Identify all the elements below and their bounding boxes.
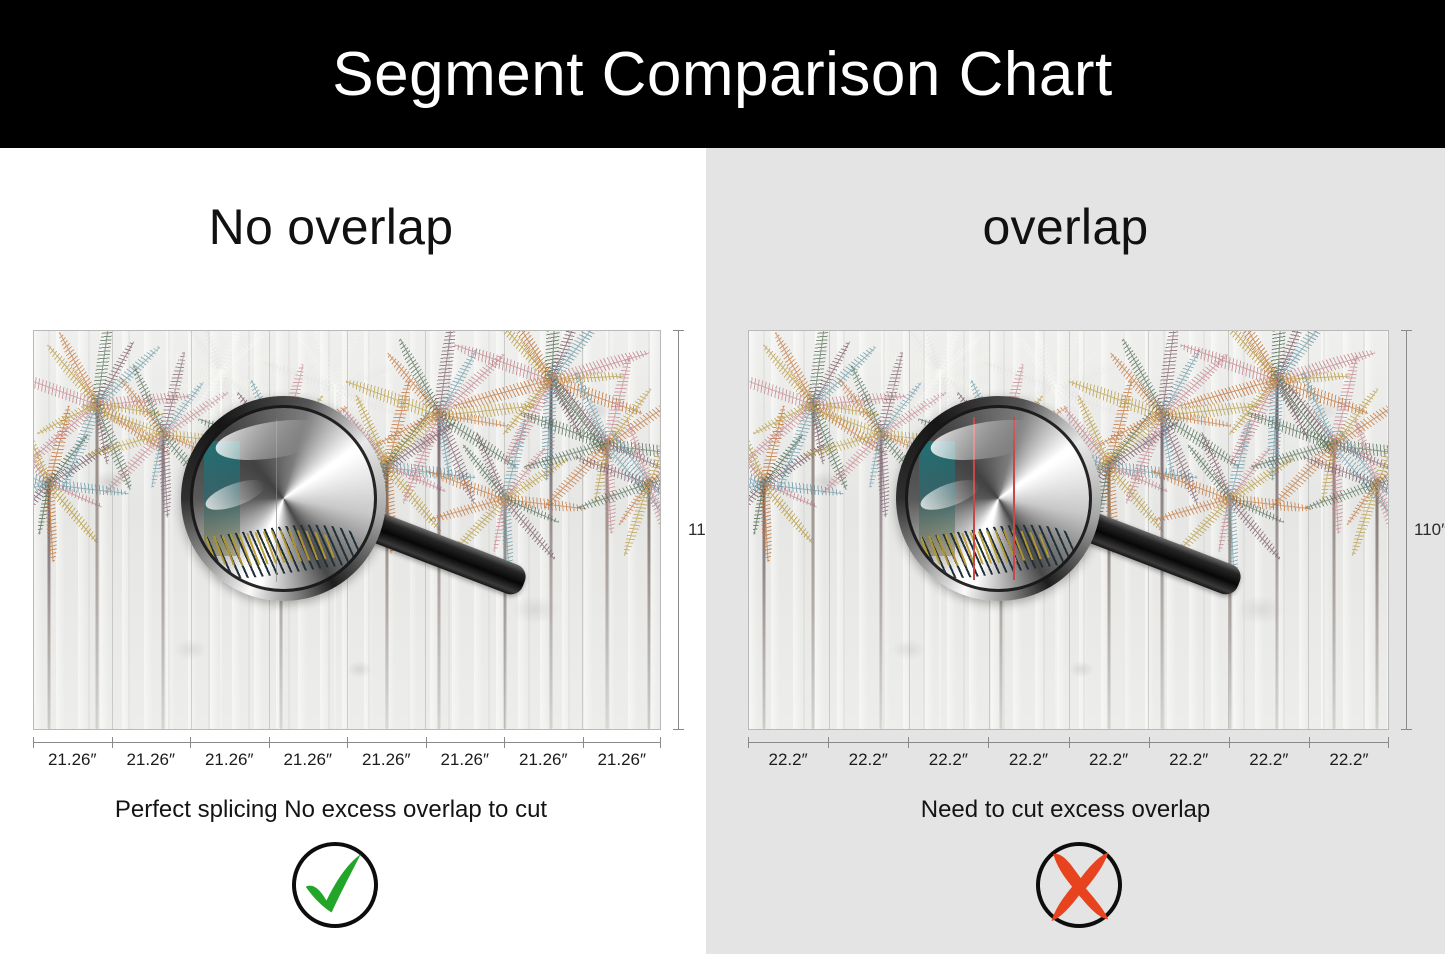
segment-width-label: 21.26″ (347, 750, 426, 770)
comparison-panels: No overlap (0, 148, 1445, 954)
segment-width-label: 22.2″ (908, 750, 988, 770)
status-badge-error (1036, 842, 1122, 928)
magnifier-ring (181, 396, 386, 601)
palm-tree (606, 439, 608, 729)
wallpaper-preview-no-overlap: 110″ 21.26″21.26″21.26″21.26″21.26″21.26… (33, 330, 661, 730)
segment-width-label: 22.2″ (988, 750, 1068, 770)
segment-width-label: 22.2″ (1309, 750, 1389, 770)
segment-dimension-line (748, 742, 1389, 743)
segment-width-label: 21.26″ (33, 750, 112, 770)
segment-width-label: 21.26″ (269, 750, 348, 770)
segment-tick (190, 737, 191, 748)
palm-tree (162, 429, 164, 729)
segment-tick (347, 737, 348, 748)
wallpaper-preview-overlap: 110″ 22.2″22.2″22.2″22.2″22.2″22.2″22.2″… (748, 330, 1389, 730)
magnifier-lens (905, 405, 1092, 592)
segment-width-label: 21.26″ (583, 750, 662, 770)
panel-overlap: overlap (706, 148, 1445, 954)
segment-label-row: 22.2″22.2″22.2″22.2″22.2″22.2″22.2″22.2″ (748, 750, 1389, 770)
height-dimension-line (678, 330, 679, 730)
height-dimension-label: 110″ (1414, 520, 1445, 540)
palm-trunk (438, 409, 441, 729)
status-badge-success (292, 842, 378, 928)
palm-tree (648, 479, 650, 729)
segment-tick (1229, 737, 1230, 748)
segment-tick (504, 737, 505, 748)
palm-trunk (648, 479, 651, 729)
palm-tree (880, 429, 882, 729)
segment-width-label: 22.2″ (828, 750, 908, 770)
segment-comparison-chart-page: Segment Comparison Chart No overlap (0, 0, 1445, 954)
palm-trunk (1375, 479, 1378, 729)
segment-width-label: 22.2″ (1229, 750, 1309, 770)
panel-caption-overlap: Need to cut excess overlap (696, 796, 1435, 824)
palm-tree (1229, 494, 1231, 729)
cross-mark-icon (1036, 842, 1122, 928)
palm-tree (438, 409, 440, 729)
palm-tree (763, 479, 765, 729)
panel-heading-no-overlap: No overlap (0, 198, 684, 256)
segment-width-label: 22.2″ (1149, 750, 1229, 770)
segment-width-label: 22.2″ (1069, 750, 1149, 770)
segment-width-label: 21.26″ (504, 750, 583, 770)
check-mark-icon (292, 842, 378, 928)
segment-width-label: 21.26″ (190, 750, 269, 770)
segment-tick (269, 737, 270, 748)
segment-tick (908, 737, 909, 748)
palm-tree (48, 479, 50, 729)
segment-tick (1069, 737, 1070, 748)
panel-no-overlap: No overlap (0, 148, 706, 954)
palm-tree (1333, 439, 1335, 729)
segment-width-label: 21.26″ (112, 750, 191, 770)
panel-heading-overlap: overlap (696, 198, 1435, 256)
page-header: Segment Comparison Chart (0, 0, 1445, 148)
segment-tick (988, 737, 989, 748)
segment-tick (112, 737, 113, 748)
palm-tree (386, 461, 388, 729)
panel-caption-no-overlap: Perfect splicing No excess overlap to cu… (0, 796, 684, 824)
segment-tick (426, 737, 427, 748)
segment-width-label: 22.2″ (748, 750, 828, 770)
segment-tick (1149, 737, 1150, 748)
magnifier-lens (190, 405, 377, 592)
magnifier-ring (896, 396, 1101, 601)
segment-tick (1309, 737, 1310, 748)
segment-dimension-line (33, 742, 661, 743)
segment-label-row: 21.26″21.26″21.26″21.26″21.26″21.26″21.2… (33, 750, 661, 770)
segment-width-label: 21.26″ (426, 750, 505, 770)
page-title: Segment Comparison Chart (332, 39, 1112, 110)
segment-tick (583, 737, 584, 748)
height-dimension-line (1406, 330, 1407, 730)
palm-tree (1376, 479, 1378, 729)
segment-tick (828, 737, 829, 748)
palm-tree (1108, 461, 1110, 729)
palm-tree (504, 494, 506, 729)
